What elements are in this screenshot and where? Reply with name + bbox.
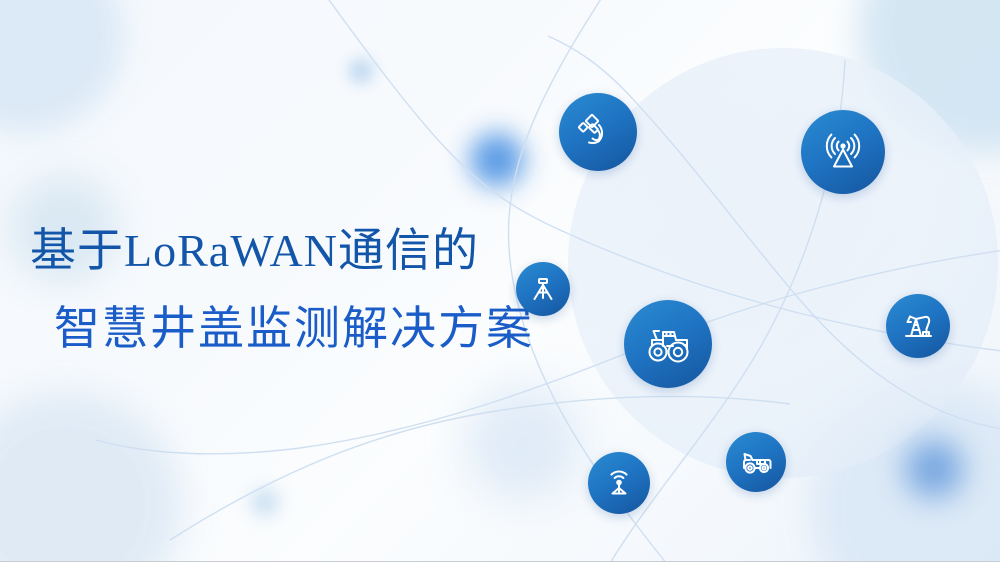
accent-dot-lower-right bbox=[905, 440, 963, 498]
accent-dot-upper bbox=[470, 133, 524, 187]
antenna-sensor-icon bbox=[602, 466, 636, 500]
accent-dot-small-top bbox=[348, 58, 374, 84]
node-vehicle[interactable] bbox=[726, 432, 786, 492]
satellite-signal-icon bbox=[576, 110, 620, 154]
background-blob-bottom-left bbox=[0, 391, 182, 562]
oil-pumpjack-icon bbox=[900, 308, 936, 344]
title-line-1: 基于LoRaWAN通信的 bbox=[30, 228, 550, 274]
node-tractor[interactable] bbox=[624, 300, 712, 388]
node-oil-pumpjack[interactable] bbox=[886, 294, 950, 358]
radio-tower-icon bbox=[820, 129, 866, 175]
background-blob-top-left bbox=[0, 0, 124, 134]
node-satellite[interactable] bbox=[559, 93, 637, 171]
background-sphere bbox=[568, 48, 998, 478]
survey-tripod-icon bbox=[528, 274, 558, 304]
node-antenna-sensor[interactable] bbox=[588, 452, 650, 514]
title-line-2: 智慧井盖监测解决方案 bbox=[54, 306, 550, 352]
accent-dot-small-bottom bbox=[250, 487, 280, 517]
utility-vehicle-icon bbox=[739, 445, 773, 479]
background-blob-bottom-mid bbox=[465, 385, 581, 501]
background-blob-bottom-right bbox=[810, 381, 1000, 562]
node-survey-tripod[interactable] bbox=[516, 262, 570, 316]
node-radio-tower[interactable] bbox=[801, 110, 885, 194]
title-block: 基于LoRaWAN通信的 智慧井盖监测解决方案 bbox=[30, 228, 550, 352]
cover-slide: 基于LoRaWAN通信的 智慧井盖监测解决方案 bbox=[0, 0, 1000, 562]
tractor-icon bbox=[643, 319, 693, 369]
